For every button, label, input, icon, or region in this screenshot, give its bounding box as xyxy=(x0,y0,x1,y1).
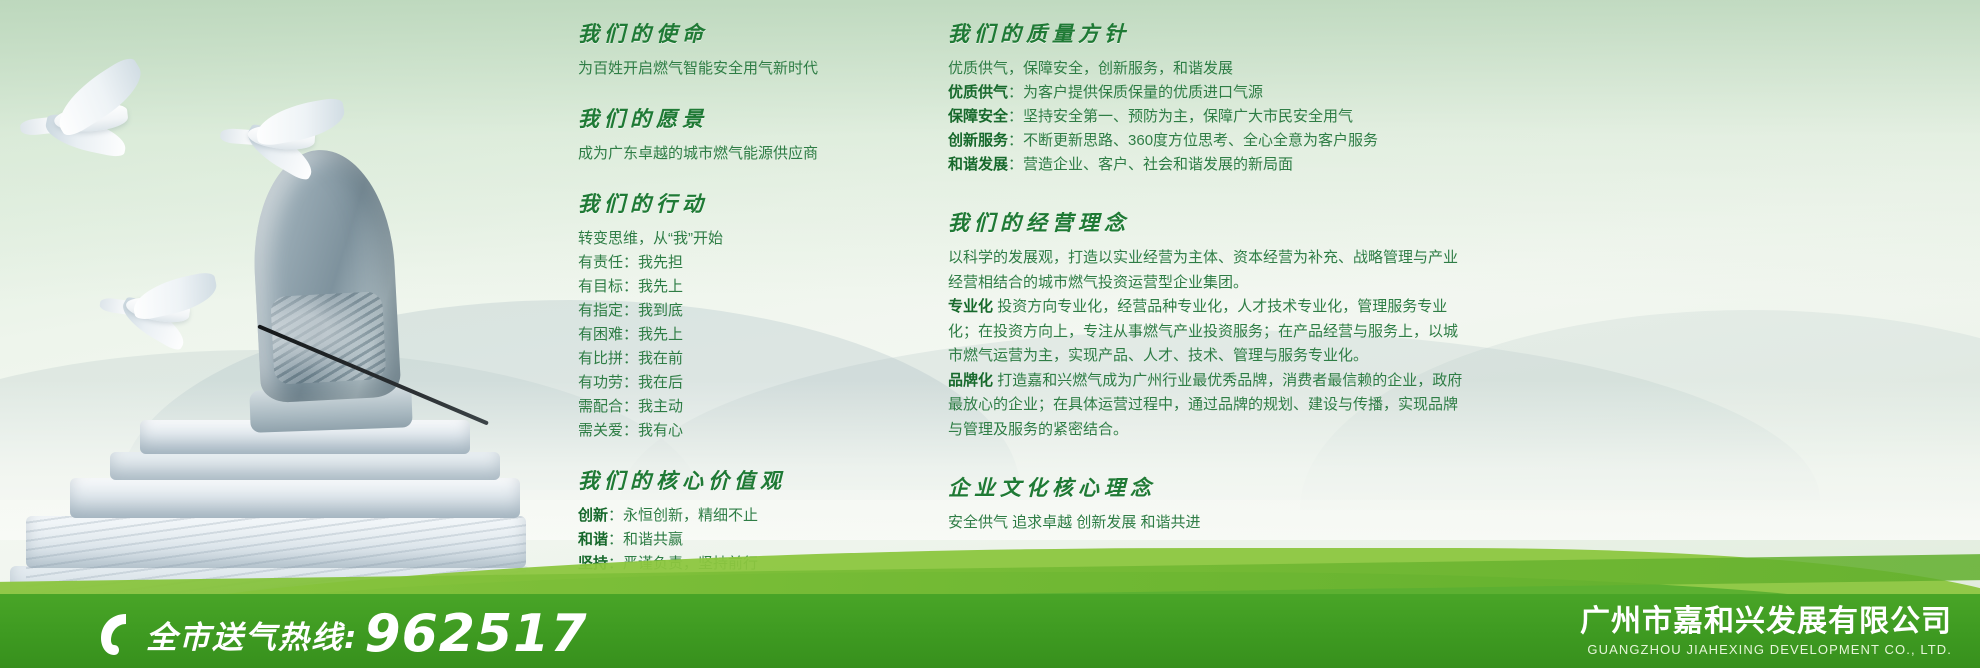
quality-policy-text: 不断更新思路、360度方位思考、全心全意为客户服务 xyxy=(1023,132,1378,149)
monument-pedestal xyxy=(249,385,412,433)
action-item-value: 我在前 xyxy=(638,350,683,367)
business-philosophy-text: 打造嘉和兴燃气成为广州行业最优秀品牌，消费者最信赖的企业，政府最放心的企业；在具… xyxy=(948,372,1462,438)
action-item-label: 有功劳： xyxy=(578,374,638,391)
business-philosophy-block: 我们的经营理念 以科学的发展观，打造以实业经营为主体、资本经营为补充、战略管理与… xyxy=(948,207,1468,442)
mission-title: 我们的使命 xyxy=(578,18,918,48)
core-value-text: 永恒创新，精细不止 xyxy=(623,507,758,524)
quality-policy-label: 保障安全 xyxy=(948,108,1008,125)
business-philosophy-title: 我们的经营理念 xyxy=(948,207,1468,237)
quality-policy-item: 创新服务：不断更新思路、360度方位思考、全心全意为客户服务 xyxy=(948,129,1468,153)
action-item-label: 需关爱： xyxy=(578,422,638,439)
quality-policy-item: 保障安全：坚持安全第一、预防为主，保障广大市民安全用气 xyxy=(948,105,1468,129)
quality-policy-text: 为客户提供保质保量的优质进口气源 xyxy=(1023,84,1263,101)
footer-banner: 全市送气热线: 962517 广州市嘉和兴发展有限公司 GUANGZHOU JI… xyxy=(0,536,1980,668)
vision-title: 我们的愿景 xyxy=(578,103,918,133)
monument-base-step xyxy=(70,478,520,518)
action-item: 有指定：我到底 xyxy=(578,299,918,323)
business-philosophy-label: 专业化 xyxy=(948,298,993,315)
action-item: 有责任：我先担 xyxy=(578,251,918,275)
quality-policy-item: 优质供气：为客户提供保质保量的优质进口气源 xyxy=(948,81,1468,105)
quality-policy-sep: ： xyxy=(1008,84,1023,101)
action-item-value: 我先上 xyxy=(638,278,683,295)
business-philosophy-item: 品牌化 打造嘉和兴燃气成为广州行业最优秀品牌，消费者最信赖的企业，政府最放心的企… xyxy=(948,369,1468,443)
sundial-stone xyxy=(249,147,402,404)
right-text-column: 我们的质量方针 优质供气，保障安全，创新服务，和谐发展 优质供气：为客户提供保质… xyxy=(948,18,1468,557)
sundial-gnomon-rod xyxy=(257,324,489,425)
action-block: 我们的行动 转变思维，从“我”开始 有责任：我先担 有目标：我先上 有指定：我到… xyxy=(578,188,918,443)
quality-policy-label: 创新服务 xyxy=(948,132,1008,149)
action-item: 需关爱：我有心 xyxy=(578,419,918,443)
quality-policy-sep: ： xyxy=(1008,156,1023,173)
quality-policy-sep: ： xyxy=(1008,108,1023,125)
spacer xyxy=(948,199,1468,207)
quality-policy-title: 我们的质量方针 xyxy=(948,18,1468,48)
business-philosophy-label: 品牌化 xyxy=(948,372,993,389)
core-values-title: 我们的核心价值观 xyxy=(578,465,918,495)
hotline-number: 962517 xyxy=(364,610,587,658)
action-item: 有功劳：我在后 xyxy=(578,371,918,395)
action-lead: 转变思维，从“我”开始 xyxy=(578,227,918,251)
monument-base-step xyxy=(110,452,500,480)
action-item: 有比拼：我在前 xyxy=(578,347,918,371)
left-text-column: 我们的使命 为百姓开启燃气智能安全用气新时代 我们的愿景 成为广东卓越的城市燃气… xyxy=(578,18,918,598)
quality-policy-label: 优质供气 xyxy=(948,84,1008,101)
hotline-group: 全市送气热线: 962517 xyxy=(96,610,588,658)
action-item-value: 我在后 xyxy=(638,374,683,391)
stone-sundial-monument xyxy=(0,120,560,540)
action-item-value: 我主动 xyxy=(638,398,683,415)
culture-core-line: 安全供气 追求卓越 创新发展 和谐共进 xyxy=(948,511,1468,535)
action-item-label: 有责任： xyxy=(578,254,638,271)
monument-base-step xyxy=(140,420,470,454)
quality-policy-label: 和谐发展 xyxy=(948,156,1008,173)
quality-policy-text: 营造企业、客户、社会和谐发展的新局面 xyxy=(1023,156,1293,173)
core-value-item: 创新：永恒创新，精细不止 xyxy=(578,504,918,528)
quality-policy-block: 我们的质量方针 优质供气，保障安全，创新服务，和谐发展 优质供气：为客户提供保质… xyxy=(948,18,1468,177)
mission-block: 我们的使命 为百姓开启燃气智能安全用气新时代 xyxy=(578,18,918,81)
action-item-label: 有目标： xyxy=(578,278,638,295)
company-name-en: GUANGZHOU JIAHEXING DEVELOPMENT CO., LTD… xyxy=(1580,640,1952,660)
quality-policy-item: 和谐发展：营造企业、客户、社会和谐发展的新局面 xyxy=(948,153,1468,177)
business-philosophy-text: 投资方向专业化，经营品种专业化，人才技术专业化，管理服务专业化；在投资方向上，专… xyxy=(948,298,1458,364)
core-value-label: 创新 xyxy=(578,507,608,524)
vision-line: 成为广东卓越的城市燃气能源供应商 xyxy=(578,142,918,166)
spacer xyxy=(948,464,1468,472)
action-item-value: 我有心 xyxy=(638,422,683,439)
core-value-sep: ： xyxy=(608,507,623,524)
action-item-value: 我先担 xyxy=(638,254,683,271)
action-item-label: 有比拼： xyxy=(578,350,638,367)
mission-line: 为百姓开启燃气智能安全用气新时代 xyxy=(578,57,918,81)
company-identity: 广州市嘉和兴发展有限公司 GUANGZHOU JIAHEXING DEVELOP… xyxy=(1580,604,1952,660)
business-philosophy-item: 专业化 投资方向专业化，经营品种专业化，人才技术专业化，管理服务专业化；在投资方… xyxy=(948,295,1468,369)
quality-policy-lead: 优质供气，保障安全，创新服务，和谐发展 xyxy=(948,57,1468,81)
quality-policy-sep: ： xyxy=(1008,132,1023,149)
quality-policy-text: 坚持安全第一、预防为主，保障广大市民安全用气 xyxy=(1023,108,1353,125)
action-item: 需配合：我主动 xyxy=(578,395,918,419)
vision-block: 我们的愿景 成为广东卓越的城市燃气能源供应商 xyxy=(578,103,918,166)
phone-handset-icon xyxy=(96,610,140,658)
corporate-culture-poster: 我们的使命 为百姓开启燃气智能安全用气新时代 我们的愿景 成为广东卓越的城市燃气… xyxy=(0,0,1980,668)
culture-core-title: 企业文化核心理念 xyxy=(948,472,1468,502)
action-item-value: 我先上 xyxy=(638,326,683,343)
culture-core-block: 企业文化核心理念 安全供气 追求卓越 创新发展 和谐共进 xyxy=(948,472,1468,535)
action-title: 我们的行动 xyxy=(578,188,918,218)
action-item-label: 需配合： xyxy=(578,398,638,415)
action-item: 有困难：我先上 xyxy=(578,323,918,347)
business-philosophy-intro: 以科学的发展观，打造以实业经营为主体、资本经营为补充、战略管理与产业经营相结合的… xyxy=(948,246,1468,295)
action-item-label: 有困难： xyxy=(578,326,638,343)
company-name-cn: 广州市嘉和兴发展有限公司 xyxy=(1580,604,1952,640)
hotline-label: 全市送气热线: xyxy=(146,618,358,658)
action-item-label: 有指定： xyxy=(578,302,638,319)
action-item-value: 我到底 xyxy=(638,302,683,319)
action-item: 有目标：我先上 xyxy=(578,275,918,299)
